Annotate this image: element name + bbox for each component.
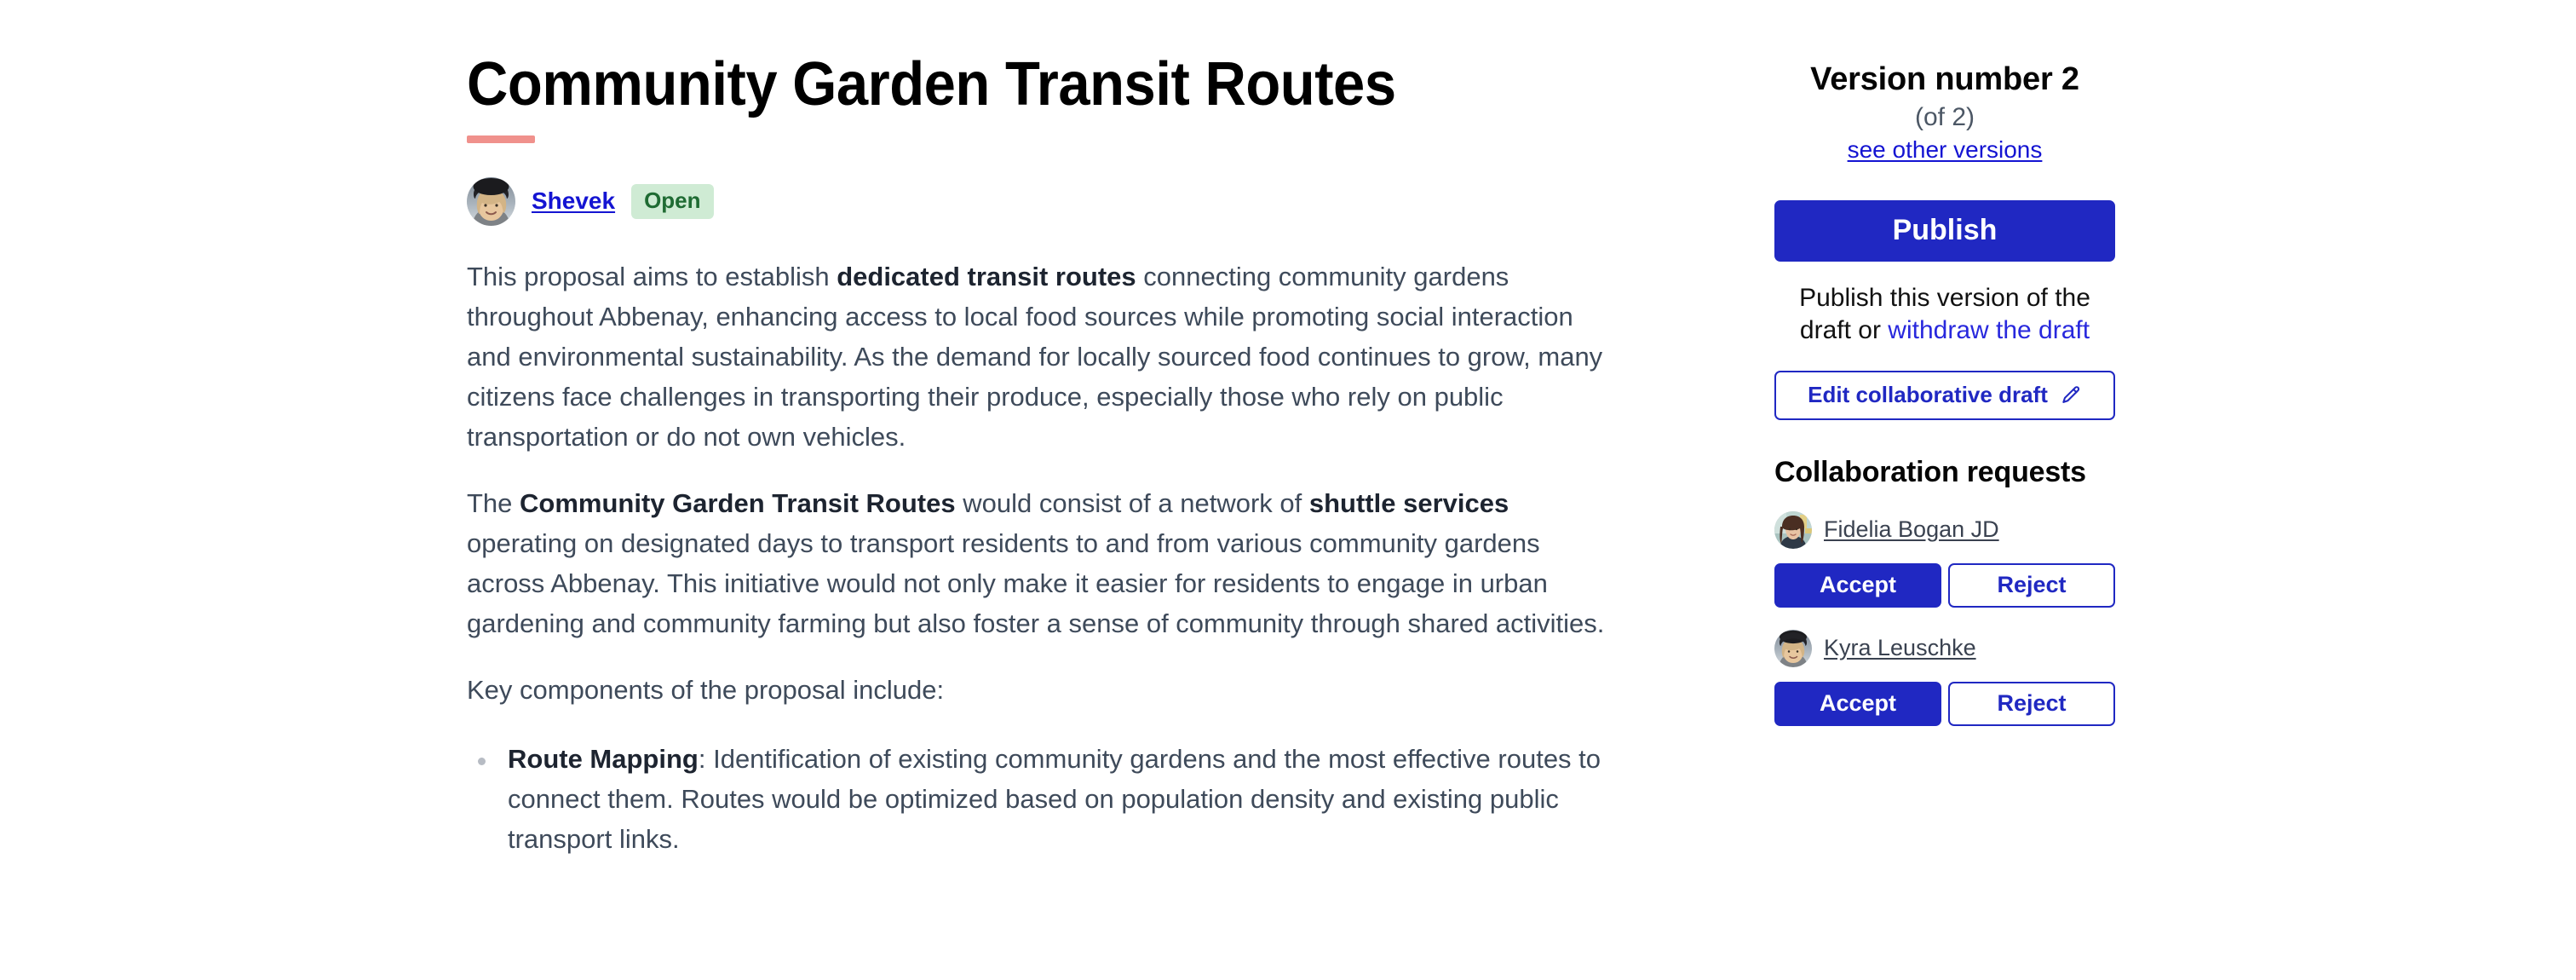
text-run: Key components of the proposal include: [467, 675, 944, 705]
version-number-heading: Version number 2 [1774, 0, 2115, 98]
text-run: The [467, 488, 520, 518]
collaboration-request-row: Kyra Leuschke [1774, 630, 2115, 667]
author-link[interactable]: Shevek [532, 187, 615, 215]
paragraph-list: This proposal aims to establish dedicate… [467, 257, 1613, 710]
author-avatar [467, 177, 515, 226]
accept-request-button[interactable]: Accept [1774, 563, 1941, 608]
collaboration-request-row: Fidelia Bogan JD [1774, 511, 2115, 549]
version-sidebar: Version number 2 (of 2) see other versio… [1774, 0, 2115, 726]
pencil-icon [2060, 384, 2082, 406]
body-paragraph: The Community Garden Transit Routes woul… [467, 483, 1613, 643]
proposal-body: This proposal aims to establish dedicate… [467, 257, 1613, 859]
bold-run: shuttle services [1309, 488, 1509, 518]
text-run: would consist of a network of [956, 488, 1309, 518]
publish-button[interactable]: Publish [1774, 200, 2115, 262]
bold-run: dedicated transit routes [837, 262, 1136, 291]
status-badge: Open [631, 184, 713, 219]
key-components-list: Route Mapping: Identification of existin… [467, 739, 1613, 859]
collaboration-requests-list: Fidelia Bogan JDAcceptReject Kyra Leusch… [1774, 511, 2115, 726]
see-other-versions-link[interactable]: see other versions [1774, 135, 2115, 164]
request-action-row: AcceptReject [1774, 682, 2115, 726]
withdraw-draft-link[interactable]: withdraw the draft [1888, 316, 2090, 344]
page-title: Community Garden Transit Routes [467, 0, 1537, 117]
main-content-column: Community Garden Transit Routes [467, 0, 1617, 876]
proposal-page: Community Garden Transit Routes [0, 0, 2576, 980]
requester-name-link[interactable]: Kyra Leuschke [1824, 635, 1976, 661]
request-action-row: AcceptReject [1774, 563, 2115, 608]
title-accent-rule [467, 135, 535, 143]
edit-collaborative-draft-button[interactable]: Edit collaborative draft [1774, 371, 2115, 420]
text-run: This proposal aims to establish [467, 262, 837, 291]
publish-help-text: Publish this version of the draft or wit… [1774, 282, 2115, 347]
version-count-label: (of 2) [1774, 103, 2115, 133]
reject-request-button[interactable]: Reject [1948, 682, 2115, 726]
body-paragraph: This proposal aims to establish dedicate… [467, 257, 1613, 457]
bold-run: Community Garden Transit Routes [520, 488, 956, 518]
text-run: operating on designated days to transpor… [467, 528, 1604, 638]
reject-request-button[interactable]: Reject [1948, 563, 2115, 608]
author-row: Shevek Open [467, 177, 1617, 226]
collaboration-requests-heading: Collaboration requests [1774, 456, 2115, 489]
requester-name-link[interactable]: Fidelia Bogan JD [1824, 516, 1999, 543]
bold-run: Route Mapping [508, 744, 699, 774]
accept-request-button[interactable]: Accept [1774, 682, 1941, 726]
requester-avatar [1774, 630, 1812, 667]
body-paragraph: Key components of the proposal include: [467, 670, 1613, 710]
requester-avatar [1774, 511, 1812, 549]
list-item: Route Mapping: Identification of existin… [467, 739, 1613, 859]
edit-draft-label: Edit collaborative draft [1808, 382, 2048, 408]
